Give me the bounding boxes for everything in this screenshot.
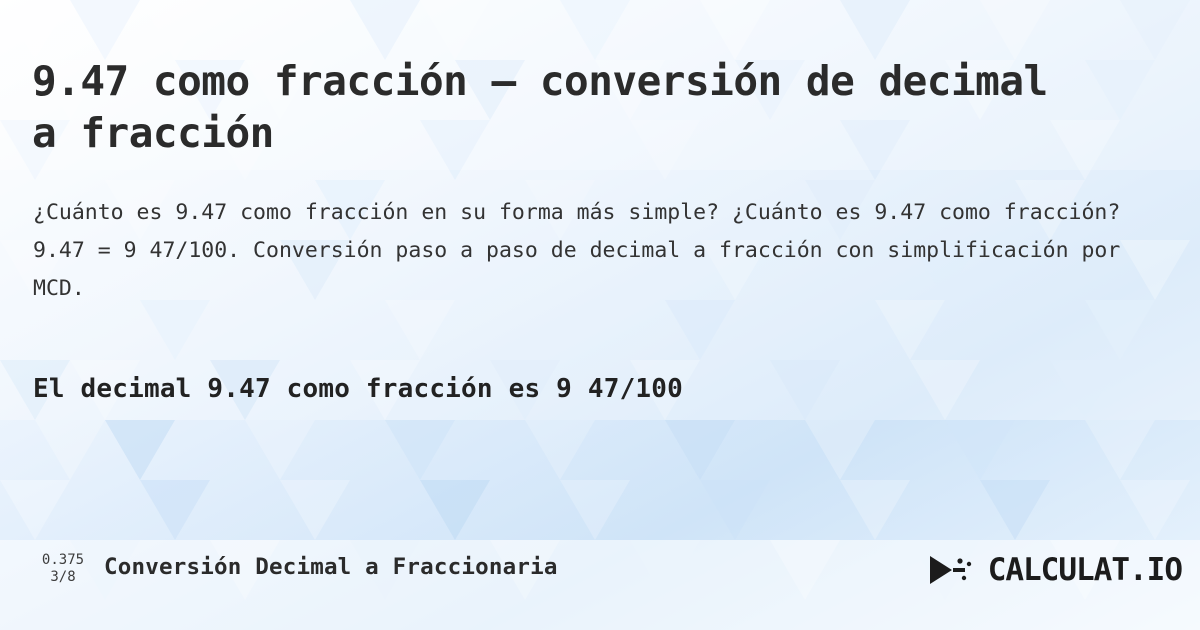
footer-label: Conversión Decimal a Fraccionaria [104, 554, 558, 580]
footer-fraction-icon: 0.375 3/8 [30, 552, 96, 586]
brand-logo: CALCULAT.IO [926, 552, 1182, 588]
calculator-mark-icon [926, 553, 982, 587]
intro-paragraph: ¿Cuánto es 9.47 como fracción en su form… [33, 194, 1148, 308]
page-root: 9.47 como fracción – conversión de decim… [0, 0, 1200, 630]
page-title: 9.47 como fracción – conversión de decim… [32, 55, 1092, 159]
answer-statement: El decimal 9.47 como fracción es 9 47/10… [33, 374, 1133, 404]
footer-fraction-decimal: 0.375 [30, 552, 96, 569]
footer-fraction-value: 3/8 [30, 569, 96, 586]
brand-name: CALCULAT.IO [988, 552, 1182, 588]
